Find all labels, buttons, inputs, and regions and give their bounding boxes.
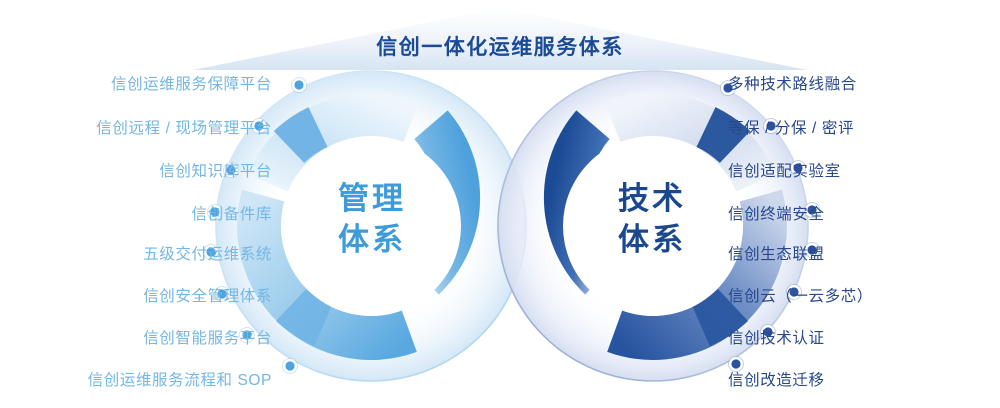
technology-label-7: 信创技术认证: [728, 326, 825, 348]
technology-label-8: 信创改造迁移: [728, 368, 825, 390]
management-label-7: 信创智能服务平台: [143, 326, 272, 348]
management-label-8: 信创运维服务流程和 SOP: [88, 368, 272, 390]
technology-label-6: 信创云（一云多芯）: [728, 284, 873, 306]
label-list-technology: 多种技术路线融合等保 / 分保 / 密评信创适配实验室信创终端安全信创生态联盟信…: [728, 0, 1000, 408]
management-label-2: 信创远程 / 现场管理平台: [96, 116, 272, 138]
infographic-canvas: 信创一体化运维服务体系 管理 体系 技术 体系 信创运维服务保障平台信创远程 /…: [0, 0, 1000, 408]
management-label-3: 信创知识库平台: [159, 159, 272, 181]
page-title: 信创一体化运维服务体系: [0, 31, 1000, 61]
technology-label-4: 信创终端安全: [728, 202, 825, 224]
technology-label-1: 多种技术路线融合: [728, 72, 857, 94]
technology-label-5: 信创生态联盟: [728, 242, 825, 264]
management-label-1: 信创运维服务保障平台: [111, 72, 272, 94]
management-dot-1: [294, 80, 303, 89]
management-label-4: 信创备件库: [191, 202, 272, 224]
technology-label-2: 等保 / 分保 / 密评: [728, 116, 854, 138]
technology-label-3: 信创适配实验室: [728, 159, 841, 181]
management-label-5: 五级交付运维系统: [143, 242, 272, 264]
label-list-management: 信创运维服务保障平台信创远程 / 现场管理平台信创知识库平台信创备件库五级交付运…: [0, 0, 272, 408]
management-label-6: 信创安全管理体系: [143, 284, 272, 306]
management-dot-8: [285, 361, 294, 370]
